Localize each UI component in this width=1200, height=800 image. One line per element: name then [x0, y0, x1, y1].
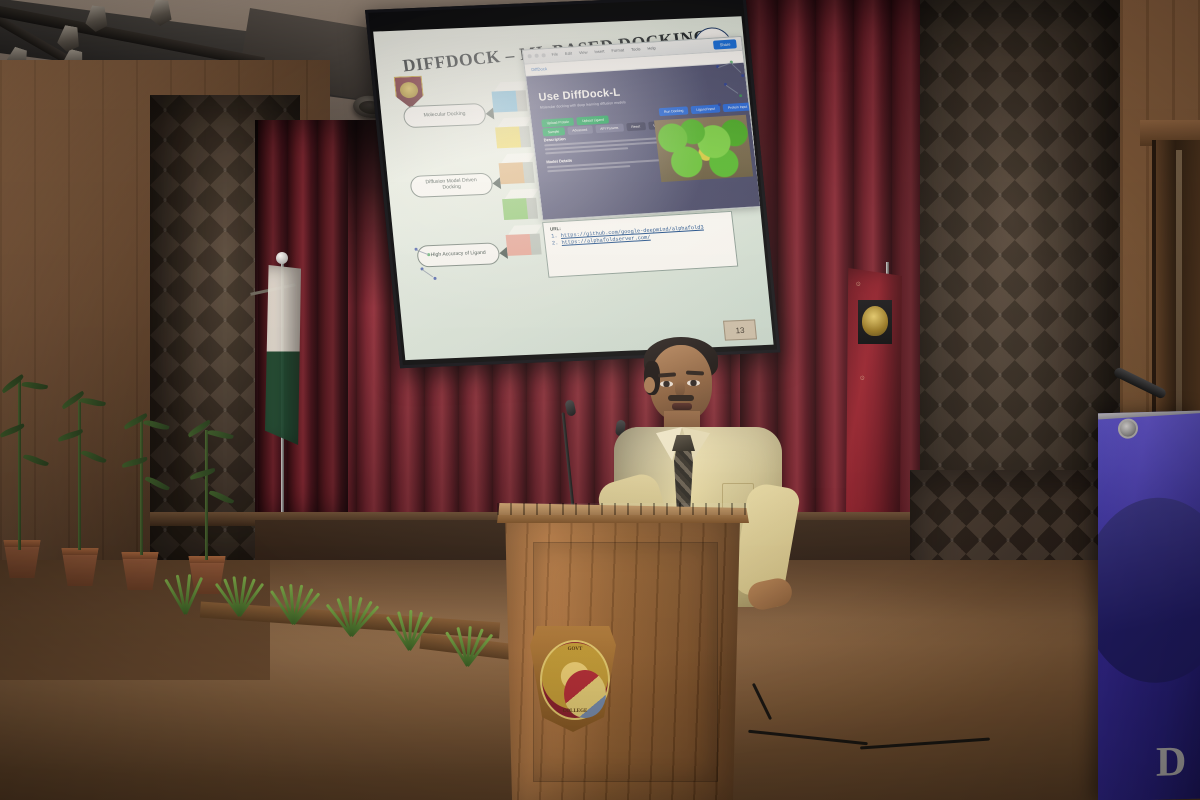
blue-event-banner: D	[1098, 411, 1200, 800]
conference-hall-photo: DIFFDOCK – ML BASED DOCKING DiffDock Mol…	[0, 0, 1200, 800]
pill-button: Run Docking	[659, 106, 689, 116]
hero-body-text: Description Model Details	[543, 130, 665, 174]
flow-label-1: Molecular Docking	[403, 103, 487, 128]
seal-ring: GOVT COLLEGE	[540, 640, 610, 720]
pill-button: Reset	[626, 122, 646, 131]
mustache	[668, 395, 694, 401]
bamboo-stalk	[205, 430, 208, 560]
bamboo-stalk	[18, 380, 21, 550]
lectern-seal: GOVT COLLEGE	[530, 626, 616, 732]
ornamental-grass	[378, 604, 438, 650]
cube-green	[501, 189, 538, 220]
seal-text-top: GOVT	[542, 647, 608, 652]
university-shield-crest-icon	[394, 76, 425, 109]
menu-item: Format	[611, 47, 624, 53]
lectern-top-slats	[497, 503, 749, 515]
banner-circle-graphic	[1098, 496, 1200, 685]
cube-pink	[505, 225, 542, 256]
window-controls-icon	[527, 53, 545, 58]
protein-surface-render	[654, 115, 753, 182]
cube-tan	[498, 153, 535, 184]
seal-text-bottom: COLLEGE	[542, 709, 608, 714]
flag-white-green	[265, 265, 301, 445]
flag-script-bottom: ۞	[860, 372, 890, 382]
menu-item: File	[551, 51, 558, 56]
ornamental-grass	[208, 570, 268, 616]
flag-script-top: ۞	[856, 278, 886, 288]
menu-item: Insert	[594, 48, 605, 54]
bamboo-stalk	[78, 400, 81, 550]
pill-button: Sample	[542, 127, 564, 136]
slide-surface: DIFFDOCK – ML BASED DOCKING DiffDock Mol…	[373, 16, 773, 360]
ear	[644, 377, 655, 393]
share-button: Share	[713, 39, 737, 49]
eyebrow-right	[686, 371, 704, 376]
flow-label-2-text: Diffusion Model Driven Docking	[416, 178, 487, 193]
flag-crest-icon	[858, 300, 892, 344]
banner-grommet-icon	[1118, 418, 1138, 439]
site-logo-label: DiffDock	[531, 66, 547, 72]
flow-label-1-text: Molecular Docking	[423, 112, 466, 120]
cube-blue	[491, 81, 528, 112]
ornamental-grass	[320, 590, 380, 636]
bamboo-stalk	[140, 420, 143, 555]
menu-item: Tools	[631, 46, 641, 52]
banner-letter: D	[1156, 741, 1186, 784]
eye-left	[660, 381, 673, 387]
flow-label-2: Diffusion Model Driven Docking	[409, 173, 493, 198]
eye-right	[687, 380, 700, 386]
flag-finial-left-icon	[276, 252, 288, 264]
ornamental-grass	[154, 568, 214, 614]
cube-yellow	[494, 117, 531, 148]
browser-menu-bar: File Edit View Insert Format Tools Help	[551, 45, 656, 57]
ornamental-grass	[262, 578, 322, 624]
menu-item: Help	[647, 45, 656, 50]
mouth	[672, 403, 692, 410]
slide-url-box: URL: https://github.com/google-deepmind/…	[542, 211, 738, 278]
projection-screen: DIFFDOCK – ML BASED DOCKING DiffDock Mol…	[365, 0, 780, 368]
ornamental-grass	[436, 620, 496, 666]
molecule-graphic-icon	[410, 243, 445, 290]
pill-button: Advanced	[567, 125, 593, 135]
menu-item: View	[579, 49, 588, 55]
menu-item: Edit	[565, 50, 572, 55]
